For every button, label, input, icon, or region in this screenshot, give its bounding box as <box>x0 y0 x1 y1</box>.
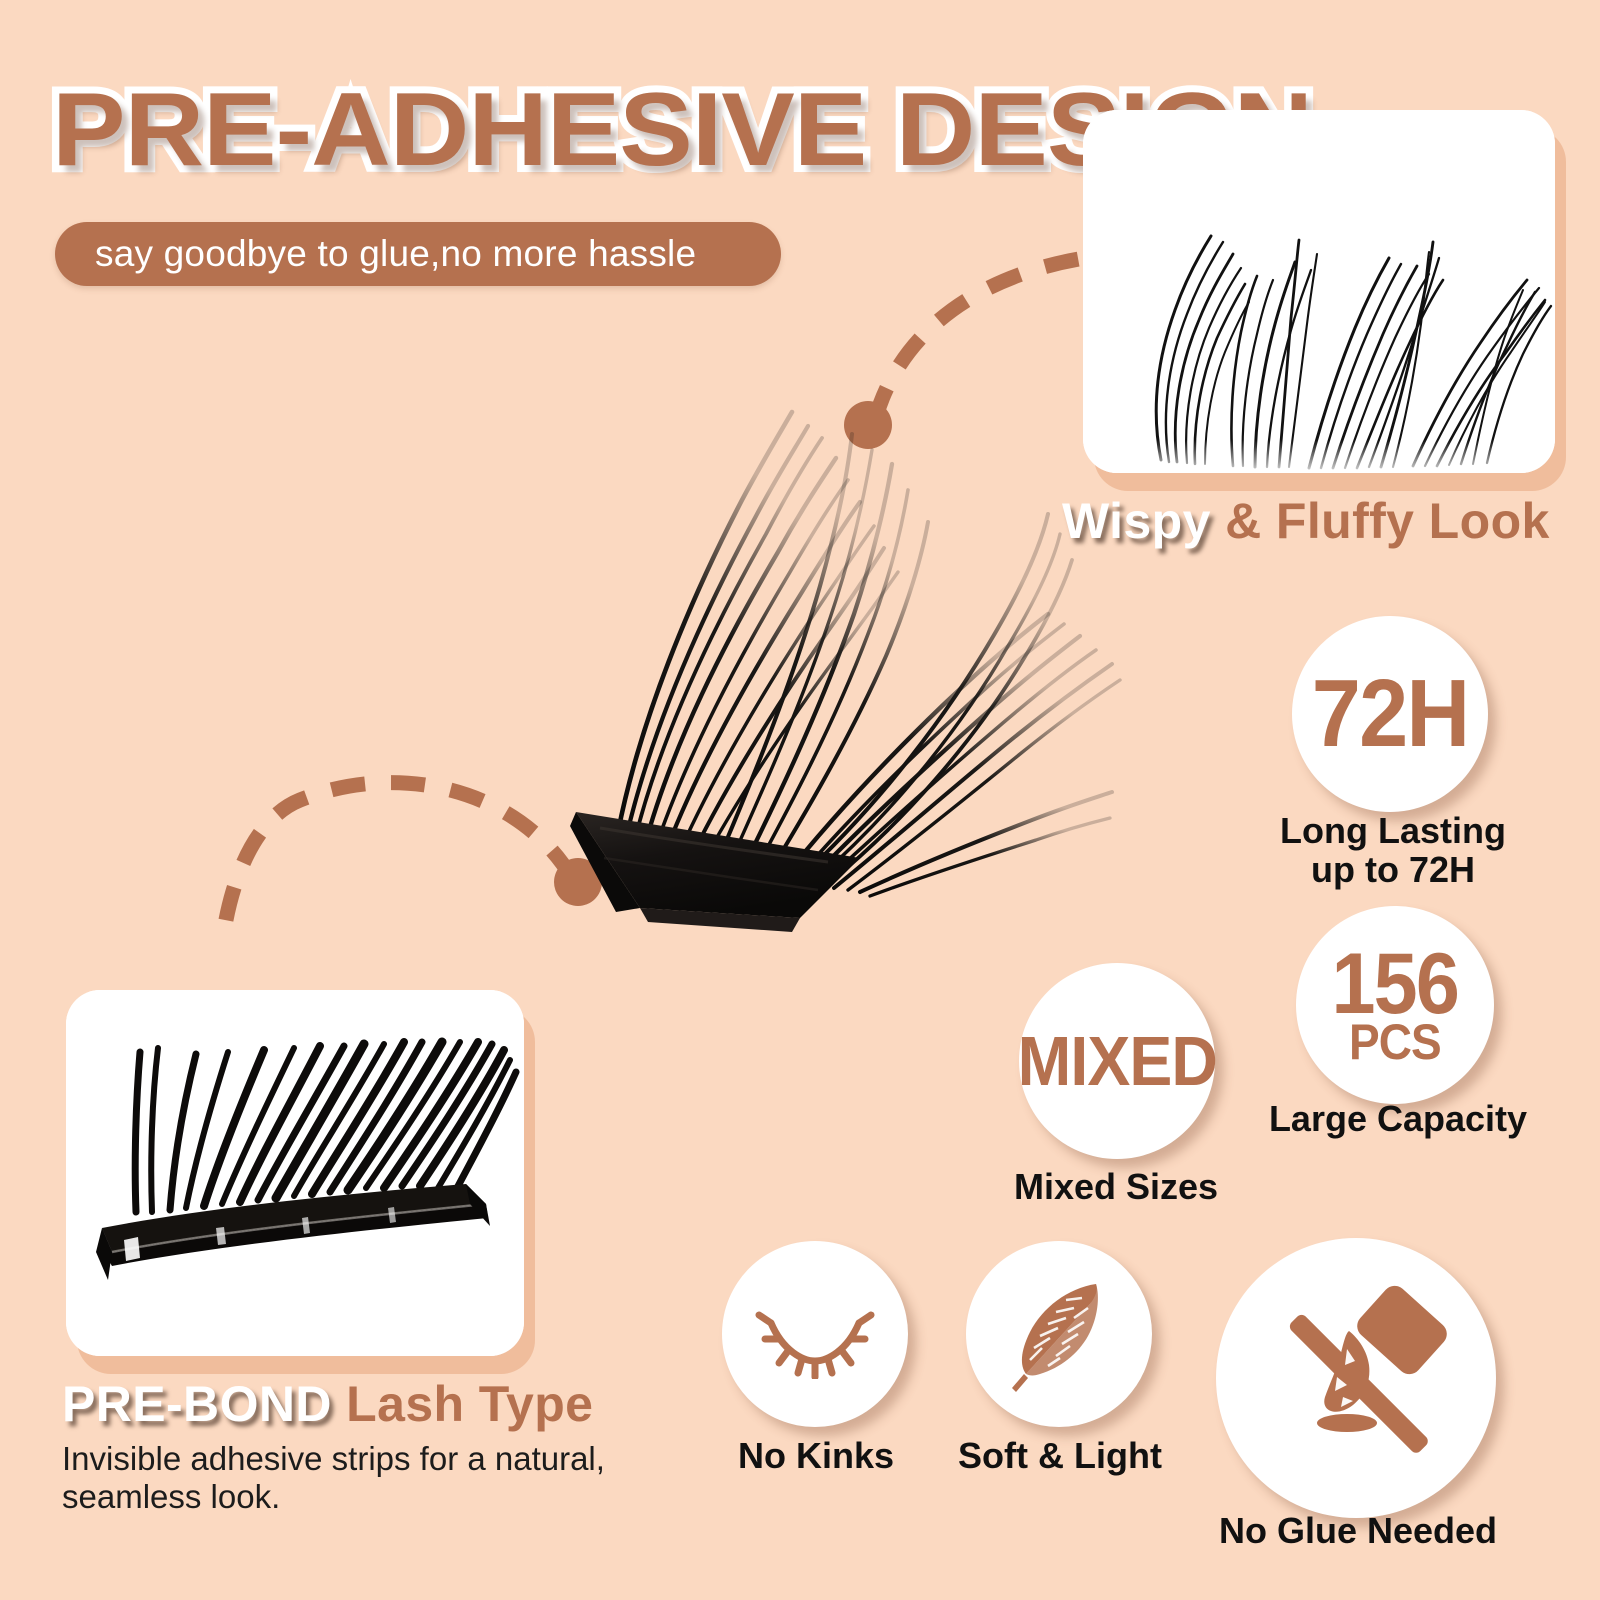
product-lash-cluster <box>0 0 1600 1600</box>
lash-fibers <box>618 412 1120 896</box>
lash-adhesive-band <box>570 812 860 932</box>
infographic-canvas: PRE-ADHESIVE DESIGN say goodbye to glue,… <box>0 0 1600 1600</box>
